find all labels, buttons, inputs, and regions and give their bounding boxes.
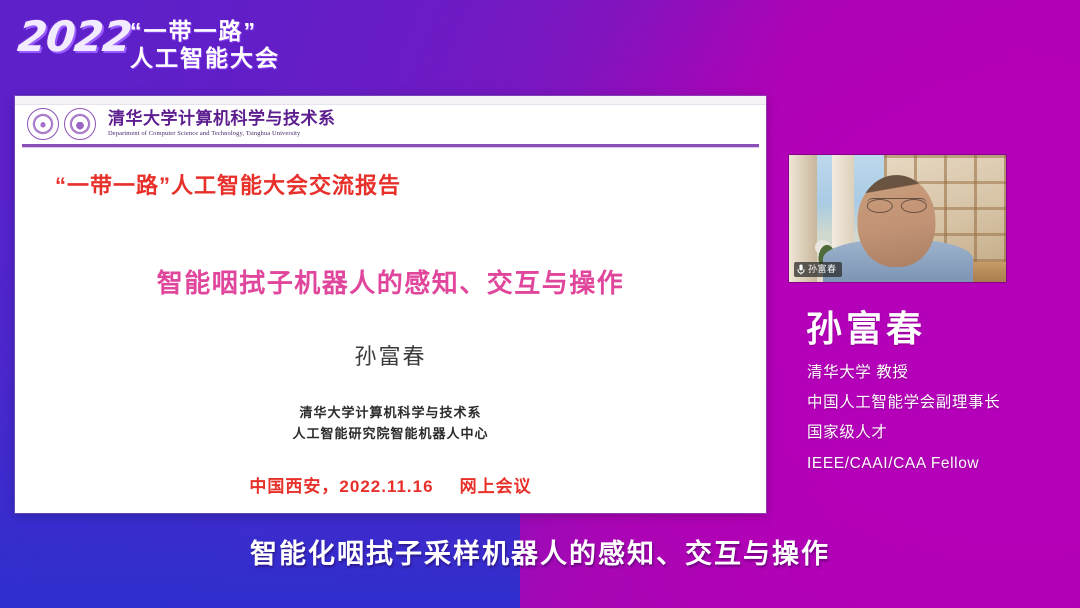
speaker-credential-item: 清华大学 教授 bbox=[807, 358, 1072, 388]
slide-affiliation-line1: 清华大学计算机科学与技术系 bbox=[15, 403, 766, 424]
conference-logo: 2022 “一带一路” 人工智能大会 bbox=[18, 8, 328, 70]
participant-name: 孙富春 bbox=[808, 265, 837, 274]
tsinghua-cs-department-seal-icon bbox=[64, 108, 96, 140]
slide-speaker-name: 孙富春 bbox=[15, 339, 766, 371]
video-person-glasses bbox=[866, 198, 926, 212]
microphone-icon bbox=[797, 264, 805, 275]
slide-footer-location-date: 中国西安，2022.11.16 bbox=[249, 477, 433, 496]
department-name-cn: 清华大学计算机科学与技术系 bbox=[108, 111, 336, 128]
conference-logo-year: 2022 bbox=[15, 12, 133, 61]
slide-footer-meeting-mode: 网上会议 bbox=[460, 477, 532, 496]
video-person-head bbox=[857, 175, 935, 267]
slide-body: “一带一路”人工智能大会交流报告 智能咽拭子机器人的感知、交互与操作 孙富春 清… bbox=[15, 150, 766, 513]
slide-title: 智能咽拭子机器人的感知、交互与操作 bbox=[15, 263, 766, 300]
slide-kicker: “一带一路”人工智能大会交流报告 bbox=[55, 168, 401, 200]
slide-affiliation: 清华大学计算机科学与技术系 人工智能研究院智能机器人中心 bbox=[15, 403, 766, 446]
broadcast-screen: 2022 “一带一路” 人工智能大会 清华大学计算机科学与技术系 Departm… bbox=[0, 0, 1080, 608]
speaker-credential-item: 国家级人才 bbox=[807, 418, 1072, 448]
slide-header-text: 清华大学计算机科学与技术系 Department of Computer Sci… bbox=[108, 111, 336, 138]
speaker-credential-item: 中国人工智能学会副理事长 bbox=[807, 388, 1072, 418]
slide-header-divider-light bbox=[22, 147, 759, 148]
slide-footer: 中国西安，2022.11.16网上会议 bbox=[15, 472, 766, 497]
speaker-credentials: 清华大学 教授 中国人工智能学会副理事长 国家级人才 IEEE/CAAI/CAA… bbox=[807, 358, 1072, 479]
slide-affiliation-line2: 人工智能研究院智能机器人中心 bbox=[15, 424, 766, 445]
participant-name-badge: 孙富春 bbox=[794, 262, 842, 277]
conference-logo-line2: 人工智能大会 bbox=[130, 39, 280, 73]
talk-title-caption: 智能化咽拭子采样机器人的感知、交互与操作 bbox=[0, 532, 1080, 571]
tsinghua-university-seal-icon bbox=[27, 108, 59, 140]
speaker-video-tile[interactable]: 孙富春 bbox=[789, 155, 1006, 282]
department-name-en: Department of Computer Science and Techn… bbox=[108, 131, 336, 138]
slide-header: 清华大学计算机科学与技术系 Department of Computer Sci… bbox=[15, 104, 766, 144]
speaker-name: 孙富春 bbox=[806, 300, 926, 352]
speaker-credential-item: IEEE/CAAI/CAA Fellow bbox=[807, 449, 1072, 479]
presentation-slide[interactable]: 清华大学计算机科学与技术系 Department of Computer Sci… bbox=[15, 96, 766, 513]
